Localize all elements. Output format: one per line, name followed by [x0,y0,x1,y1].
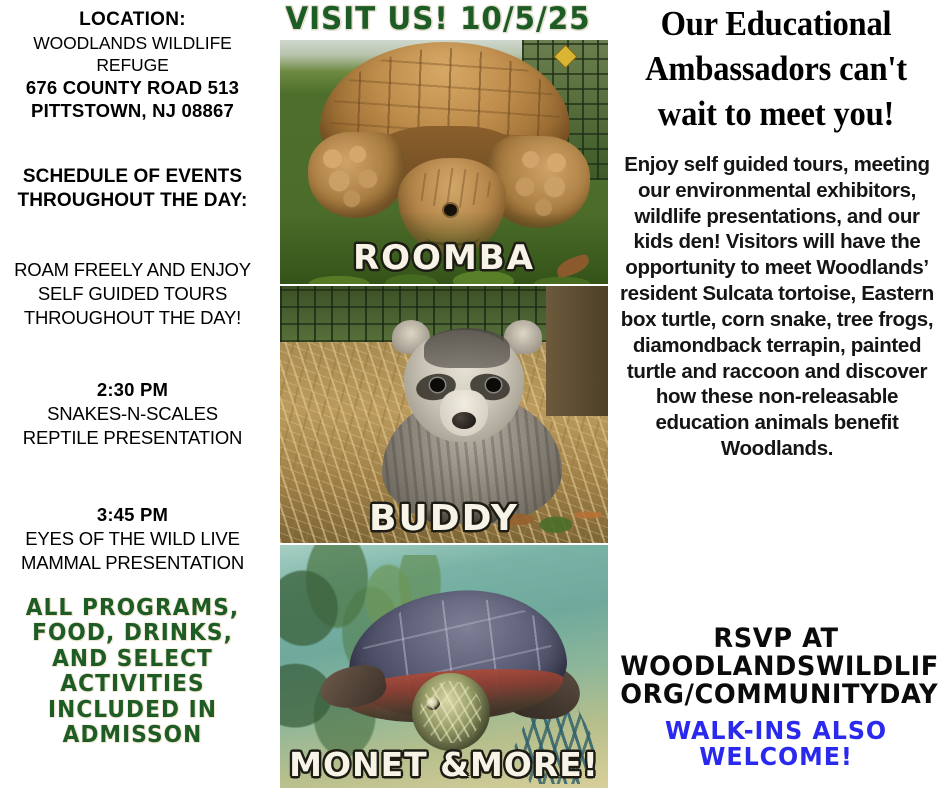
raccoon-forehead-marking [424,328,510,368]
raccoon-eye-right [486,378,501,392]
schedule-heading-line2: THROUGHOUT THE DAY: [0,189,265,213]
rsvp-url-block[interactable]: RSVP AT WOODLANDSWILDLIFE. ORG/COMMUNITY… [620,625,932,708]
event-desc-line2: MAMMAL PRESENTATION [0,551,265,575]
event-desc-line2: REPTILE PRESENTATION [0,426,265,450]
event-time: 2:30 PM [0,378,265,402]
sulcata-tortoise-photo: ROOMBA [280,40,608,284]
tree-trunk [546,286,608,416]
location-line-refuge: WOODLANDS WILDLIFE REFUGE [0,32,265,76]
walk-ins-line-1: WALK-INS ALSO [620,718,932,744]
promo-line-2: FOOD, DRINKS, [11,620,255,645]
promo-line-6: ADMISSON [11,722,255,747]
location-title: LOCATION: [0,8,265,32]
photo-caption: ROOMBA [280,238,608,278]
rsvp-url-line-2[interactable]: ORG/COMMUNITYDAY [620,681,932,709]
roam-line-1: ROAM FREELY AND ENJOY [0,258,265,282]
tortoise-front-leg-left [308,132,404,218]
promo-line-4: ACTIVITIES [11,671,255,696]
painted-turtle-photo: MONET &MORE! [280,545,608,788]
headline-line-2: Ambassadors can't [623,47,928,92]
turtle-eye [426,697,440,710]
schedule-event: 2:30 PM SNAKES-N-SCALES REPTILE PRESENTA… [0,378,265,450]
ambassadors-headline: Our Educational Ambassadors can't wait t… [623,2,928,136]
event-desc-line1: SNAKES-N-SCALES [0,402,265,426]
headline-line-1: Our Educational [623,2,928,47]
turtle-head [412,673,490,751]
rsvp-label: RSVP AT [620,625,932,653]
walk-ins-welcome-note: WALK-INS ALSO WELCOME! [620,718,932,770]
rsvp-url-line-1[interactable]: WOODLANDSWILDLIFE. [620,653,932,681]
location-block: LOCATION: WOODLANDS WILDLIFE REFUGE 676 … [0,8,265,123]
event-description-paragraph: Enjoy self guided tours, meeting our env… [614,152,940,462]
event-flyer: LOCATION: WOODLANDS WILDLIFE REFUGE 676 … [0,0,940,788]
raccoon-eye-left [430,378,445,392]
promo-line-1: ALL PROGRAMS, [11,595,255,620]
schedule-heading: SCHEDULE OF EVENTS THROUGHOUT THE DAY: [0,165,265,213]
roam-freely-note: ROAM FREELY AND ENJOY SELF GUIDED TOURS … [0,258,265,330]
event-desc-line1: EYES OF THE WILD LIVE [0,527,265,551]
schedule-event: 3:45 PM EYES OF THE WILD LIVE MAMMAL PRE… [0,503,265,575]
roam-line-2: SELF GUIDED TOURS [0,282,265,306]
raccoon-photo: BUDDY [280,286,608,543]
location-line-street: 676 COUNTY ROAD 513 [0,76,265,99]
roam-line-3: THROUGHOUT THE DAY! [0,306,265,330]
photo-caption: MONET &MORE! [280,745,608,784]
location-line-city: PITTSTOWN, NJ 08867 [0,99,265,122]
photo-caption: BUDDY [280,498,608,539]
left-info-column: LOCATION: WOODLANDS WILDLIFE REFUGE 676 … [0,0,265,788]
visit-us-banner: VISIT US! 10/5/25 [271,1,605,37]
raccoon-nose [452,412,476,429]
event-time: 3:45 PM [0,503,265,527]
headline-line-3: wait to meet you! [623,92,928,137]
schedule-heading-line1: SCHEDULE OF EVENTS [0,165,265,189]
admission-inclusions-note: ALL PROGRAMS, FOOD, DRINKS, AND SELECT A… [11,595,255,747]
promo-line-5: INCLUDED IN [11,697,255,722]
promo-line-3: AND SELECT [11,646,255,671]
walk-ins-line-2: WELCOME! [620,744,932,770]
right-info-column: Our Educational Ambassadors can't wait t… [612,0,940,788]
